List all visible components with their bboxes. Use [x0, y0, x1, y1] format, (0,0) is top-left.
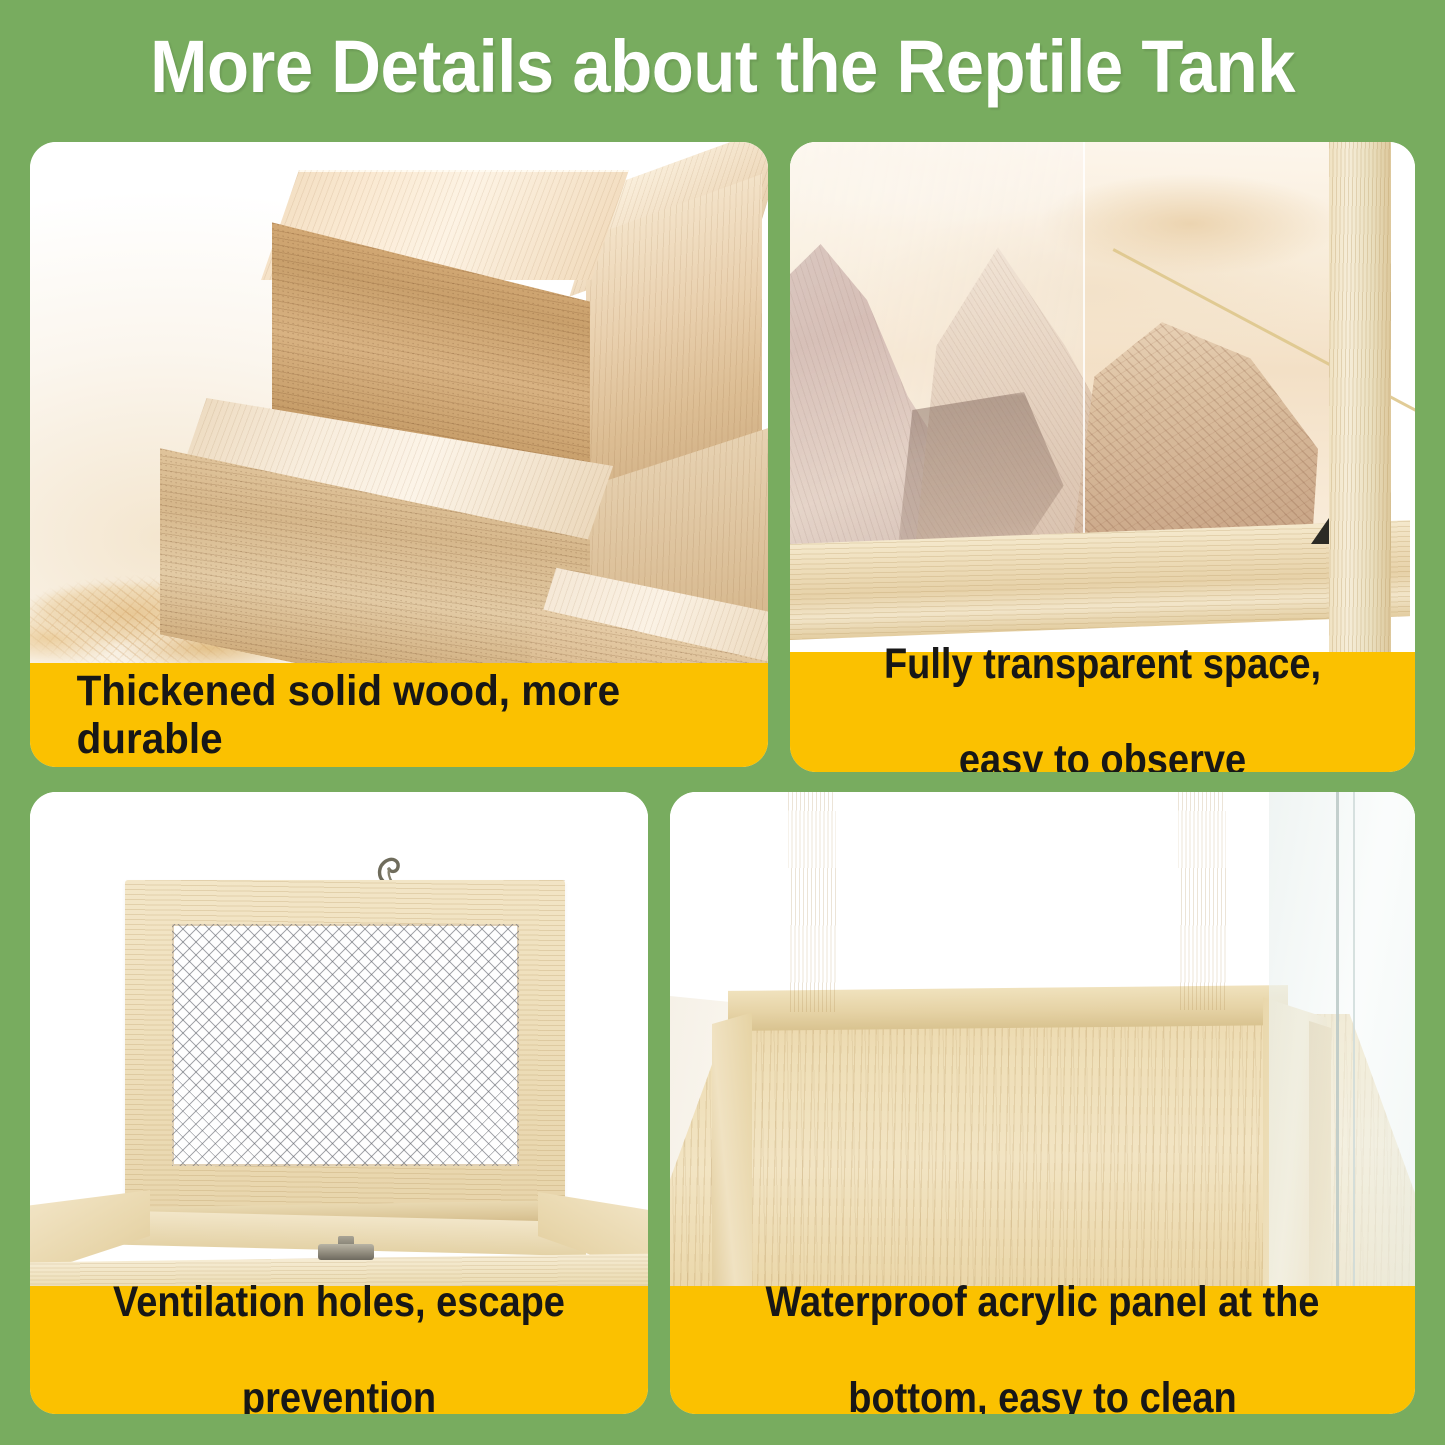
acrylic-glass-edge-inner	[1336, 792, 1339, 1286]
floor-left-edge	[712, 1013, 752, 1286]
wooden-lid-frame	[125, 880, 565, 1210]
photo-thickened-wood	[30, 142, 768, 663]
photo-waterproof-acrylic	[670, 792, 1415, 1286]
feature-card-waterproof-acrylic: Waterproof acrylic panel at the bottom, …	[670, 792, 1415, 1414]
caption-waterproof-acrylic: Waterproof acrylic panel at the bottom, …	[670, 1286, 1415, 1414]
photo-ventilation	[30, 792, 648, 1286]
wooden-corner-post-grain	[1329, 142, 1391, 652]
caption-transparent-space: Fully transparent space, easy to observe	[790, 652, 1415, 772]
caption-line-2: bottom, easy to clean	[733, 1374, 1352, 1414]
transparent-tank-illustration	[790, 142, 1415, 652]
caption-thickened-wood: Thickened solid wood, more durable	[30, 663, 768, 767]
caption-text: Thickened solid wood, more durable	[77, 667, 722, 763]
caption-text: Ventilation holes, escape prevention	[69, 1278, 609, 1414]
acrylic-glass-edge-outer	[1353, 792, 1355, 1286]
ventilation-lid-illustration	[30, 792, 648, 1286]
acrylic-glass-panel	[1269, 792, 1415, 1286]
latch-catch-plate	[318, 1244, 374, 1260]
caption-line-1: Waterproof acrylic panel at the	[733, 1278, 1352, 1326]
ventilation-mesh-pattern	[172, 924, 519, 1166]
acrylic-bottom-illustration	[670, 792, 1415, 1286]
caption-line-2: prevention	[85, 1374, 592, 1414]
caption-line-1: Fully transparent space,	[846, 640, 1359, 688]
caption-line-2: easy to observe	[846, 736, 1359, 772]
mesh-screen-window	[172, 924, 519, 1166]
feature-card-ventilation: Ventilation holes, escape prevention	[30, 792, 648, 1414]
hook-latch-icon	[369, 850, 405, 884]
caption-text: Waterproof acrylic panel at the bottom, …	[713, 1278, 1372, 1414]
photo-transparent-space	[790, 142, 1415, 652]
caption-ventilation: Ventilation holes, escape prevention	[30, 1286, 648, 1414]
caption-line-1: Ventilation holes, escape	[85, 1278, 592, 1326]
wood-blocks-illustration	[30, 142, 768, 663]
feature-card-transparent-space: Fully transparent space, easy to observe	[790, 142, 1415, 772]
feature-card-thickened-wood: Thickened solid wood, more durable	[30, 142, 768, 767]
tank-post-right	[1178, 792, 1226, 1010]
caption-text: Fully transparent space, easy to observe	[829, 640, 1375, 772]
page-header: More Details about the Reptile Tank	[0, 0, 1445, 132]
page-title: More Details about the Reptile Tank	[150, 24, 1295, 109]
tank-post-left	[788, 792, 836, 1012]
